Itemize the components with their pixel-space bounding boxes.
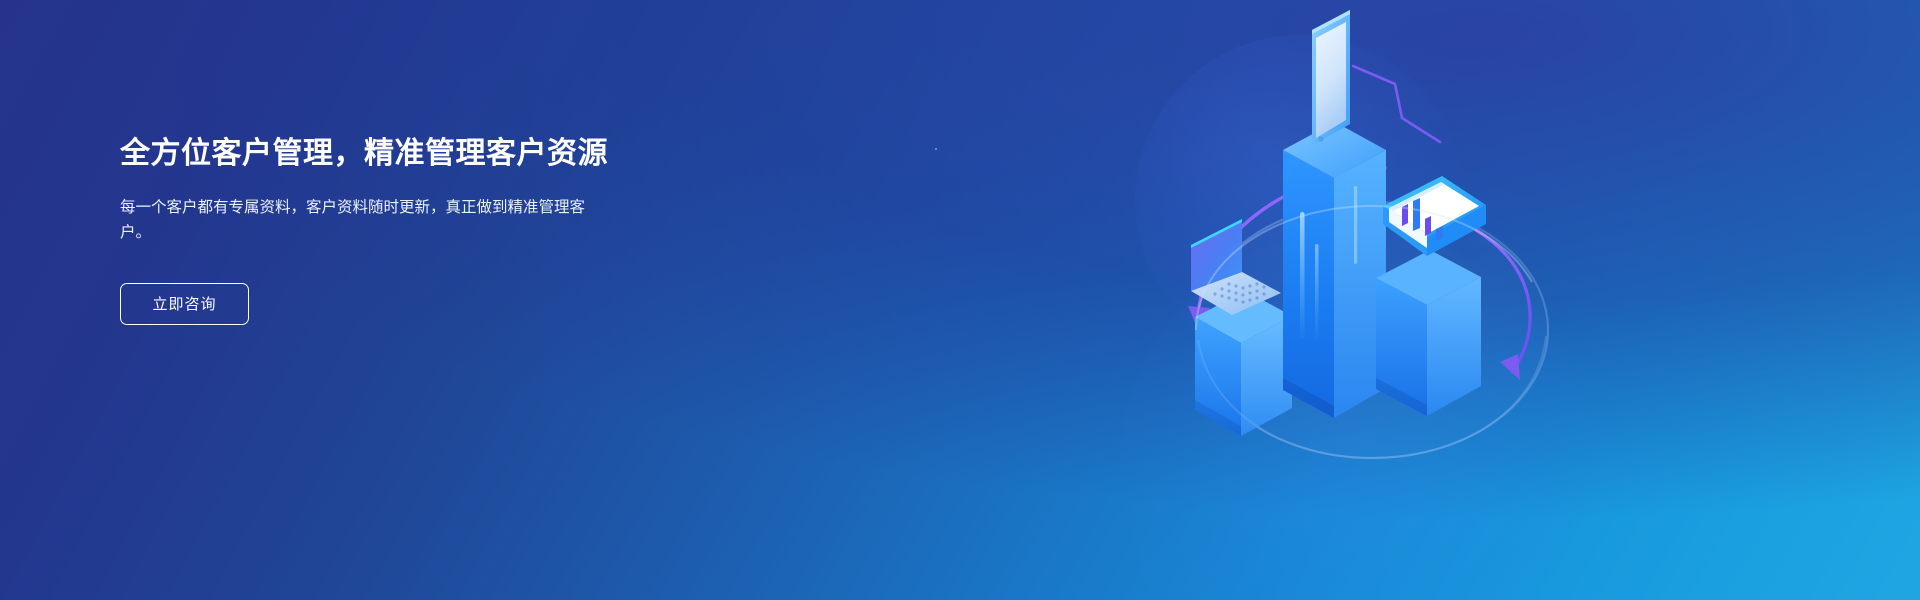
hero-subtitle: 每一个客户都有专属资料，客户资料随时更新，真正做到精准管理客户。 xyxy=(120,195,598,245)
sparkle-dot xyxy=(935,148,937,150)
center-pillar xyxy=(1283,122,1386,418)
hero-illustration xyxy=(1140,0,1610,600)
hero-text-block: 全方位客户管理，精准管理客户资源 每一个客户都有专属资料，客户资料随时更新，真正… xyxy=(120,135,680,325)
right-pillar xyxy=(1376,250,1481,416)
consult-now-button[interactable]: 立即咨询 xyxy=(120,283,249,325)
tablet-icon xyxy=(1312,10,1350,146)
left-pillar xyxy=(1195,291,1292,436)
hero-banner: 全方位客户管理，精准管理客户资源 每一个客户都有专属资料，客户资料随时更新，真正… xyxy=(0,0,1920,600)
page-title: 全方位客户管理，精准管理客户资源 xyxy=(120,135,680,173)
purple-connector-line-icon xyxy=(1353,66,1440,142)
